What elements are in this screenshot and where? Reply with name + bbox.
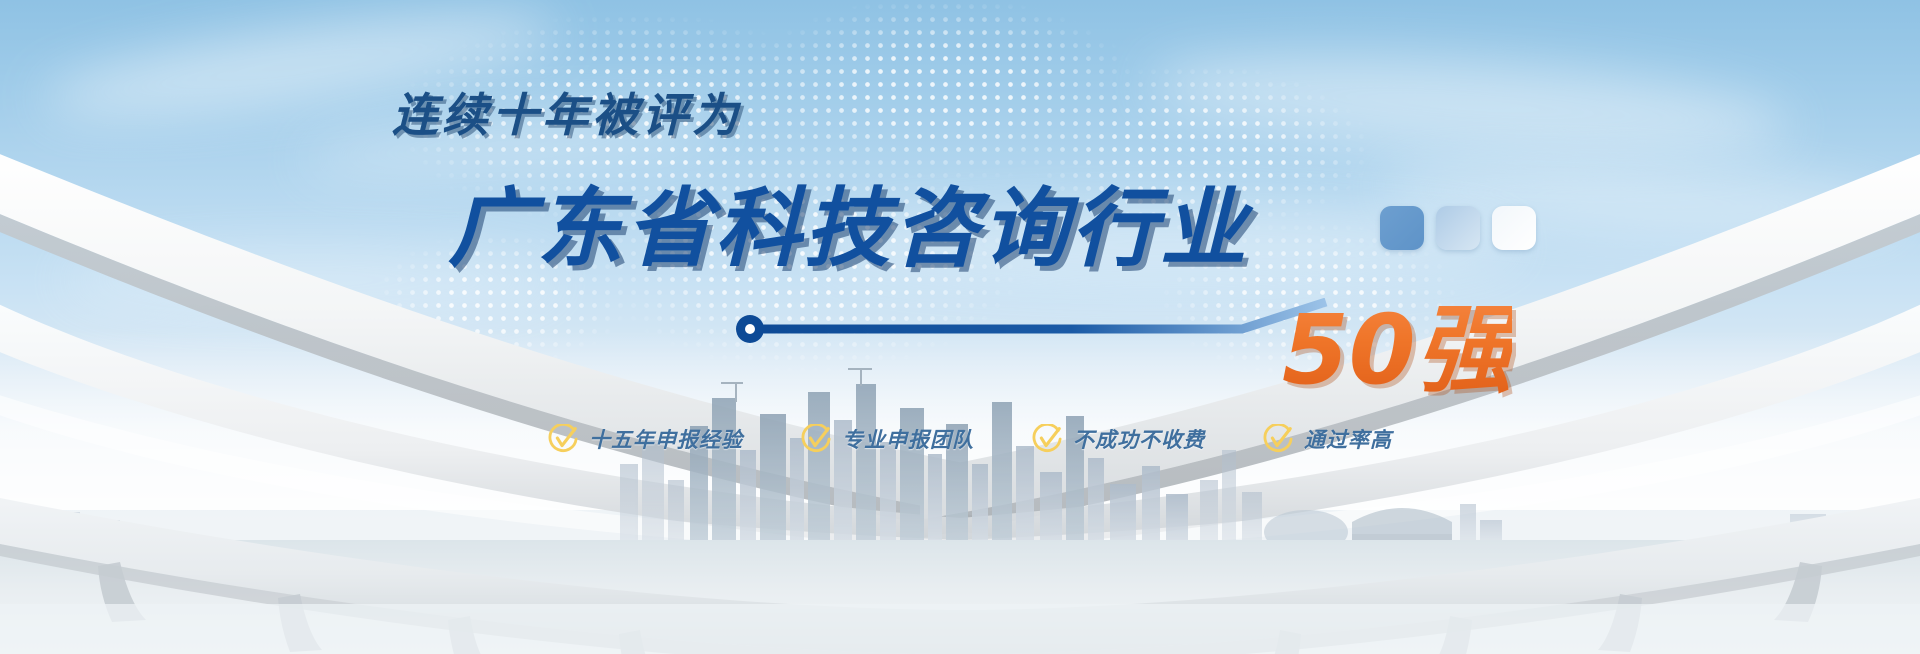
feature-item: 专业申报团队 bbox=[801, 424, 974, 454]
decor-square-3 bbox=[1492, 206, 1536, 250]
decor-squares bbox=[1380, 206, 1536, 250]
feature-item: 不成功不收费 bbox=[1032, 424, 1205, 454]
decor-square-1 bbox=[1380, 206, 1424, 250]
decor-square-2 bbox=[1436, 206, 1480, 250]
banner-rank-badge: 50强 bbox=[1282, 302, 1512, 398]
feature-label: 专业申报团队 bbox=[842, 424, 974, 454]
banner-copy: 连续十年被评为 广东省科技咨询行业 50强 十五年申报经验 专业申报团队 bbox=[0, 0, 1920, 654]
promo-banner: 连续十年被评为 广东省科技咨询行业 50强 十五年申报经验 专业申报团队 bbox=[0, 0, 1920, 654]
feature-item: 十五年申报经验 bbox=[548, 424, 743, 454]
feature-item: 通过率高 bbox=[1263, 424, 1392, 454]
banner-kicker: 连续十年被评为 bbox=[392, 92, 742, 138]
check-circle-icon bbox=[1263, 424, 1293, 454]
check-circle-icon bbox=[801, 424, 831, 454]
feature-label: 通过率高 bbox=[1304, 424, 1392, 454]
check-circle-icon bbox=[548, 424, 578, 454]
feature-label: 不成功不收费 bbox=[1073, 424, 1205, 454]
feature-label: 十五年申报经验 bbox=[589, 424, 743, 454]
connector-line-icon bbox=[730, 298, 1370, 362]
check-circle-icon bbox=[1032, 424, 1062, 454]
banner-headline: 广东省科技咨询行业 bbox=[448, 186, 1249, 272]
feature-list: 十五年申报经验 专业申报团队 不成功不收费 bbox=[548, 424, 1392, 454]
